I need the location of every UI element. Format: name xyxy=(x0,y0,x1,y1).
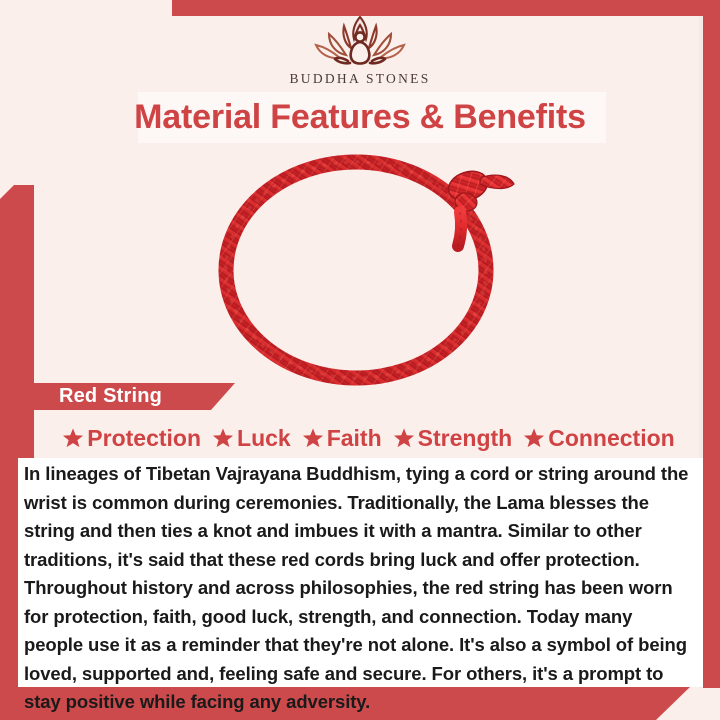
star-icon xyxy=(393,427,415,449)
product-label-banner: Red String xyxy=(0,383,235,410)
star-icon xyxy=(302,427,324,449)
feature-label: Protection xyxy=(87,425,201,452)
star-icon xyxy=(212,427,234,449)
description-text: In lineages of Tibetan Vajrayana Buddhis… xyxy=(24,460,696,717)
infographic-page: BUDDHA STONES Material Features & Benefi… xyxy=(0,0,720,720)
feature-item-strength: Strength xyxy=(393,425,513,452)
feature-list: Protection Luck Faith Strength Connectio… xyxy=(34,421,703,455)
star-icon xyxy=(62,427,84,449)
feature-item-faith: Faith xyxy=(302,425,382,452)
feature-label: Connection xyxy=(548,425,675,452)
feature-label: Strength xyxy=(418,425,513,452)
feature-label: Faith xyxy=(327,425,382,452)
product-image xyxy=(180,150,560,390)
brand-name: BUDDHA STONES xyxy=(0,71,720,87)
feature-item-connection: Connection xyxy=(523,425,675,452)
feature-item-protection: Protection xyxy=(62,425,201,452)
feature-item-luck: Luck xyxy=(212,425,291,452)
lotus-meditation-icon xyxy=(304,12,416,70)
page-title: Material Features & Benefits xyxy=(0,93,720,141)
red-braided-string-bracelet-illustration xyxy=(180,150,560,390)
brand-logo: BUDDHA STONES xyxy=(0,12,720,87)
feature-label: Luck xyxy=(237,425,291,452)
star-icon xyxy=(523,427,545,449)
